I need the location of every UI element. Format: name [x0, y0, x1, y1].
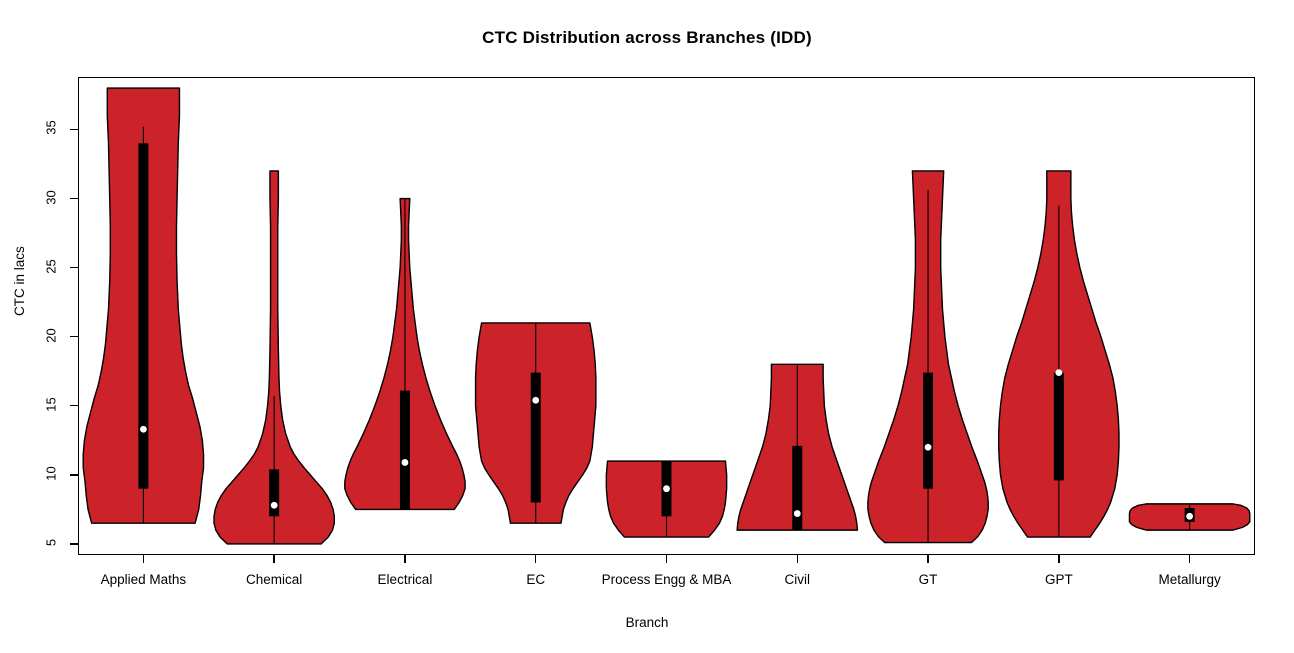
- x-tick-mark: [927, 555, 928, 563]
- y-tick-mark: [70, 267, 78, 268]
- violin-applied-maths[interactable]: [83, 88, 203, 523]
- median-dot: [794, 510, 801, 517]
- iqr-box: [400, 391, 410, 510]
- median-dot: [925, 444, 932, 451]
- violin-process-engg-mba[interactable]: [606, 461, 726, 537]
- y-tick-label: 25: [44, 251, 59, 281]
- x-tick-label-gt: GT: [919, 572, 938, 587]
- median-dot: [663, 485, 670, 492]
- x-tick-label-process-engg-mba: Process Engg & MBA: [602, 572, 732, 587]
- x-tick-label-civil: Civil: [785, 572, 811, 587]
- y-tick-mark: [70, 543, 78, 544]
- x-tick-label-metallurgy: Metallurgy: [1158, 572, 1220, 587]
- violin-gt[interactable]: [868, 171, 988, 543]
- x-tick-label-ec: EC: [526, 572, 545, 587]
- median-dot: [1055, 369, 1062, 376]
- violin-electrical[interactable]: [345, 199, 465, 510]
- x-tick-mark: [404, 555, 405, 563]
- violin-metallurgy[interactable]: [1129, 504, 1249, 530]
- violin-chart-page: CTC Distribution across Branches (IDD) C…: [0, 0, 1294, 653]
- x-tick-mark: [1189, 555, 1190, 563]
- violin-group: [78, 77, 1255, 555]
- iqr-box: [269, 469, 279, 516]
- x-tick-mark: [143, 555, 144, 563]
- y-tick-label: 35: [44, 113, 59, 143]
- median-dot: [271, 502, 278, 509]
- x-tick-label-applied-maths: Applied Maths: [101, 572, 187, 587]
- median-dot: [532, 397, 539, 404]
- page-title: CTC Distribution across Branches (IDD): [0, 28, 1294, 48]
- y-tick-mark: [70, 129, 78, 130]
- y-tick-label: 10: [44, 458, 59, 488]
- iqr-box: [531, 373, 541, 503]
- y-tick-label: 30: [44, 182, 59, 212]
- x-tick-mark: [797, 555, 798, 563]
- iqr-box: [1054, 373, 1064, 481]
- x-tick-label-electrical: Electrical: [378, 572, 433, 587]
- y-tick-label: 5: [44, 527, 59, 557]
- y-tick-mark: [70, 198, 78, 199]
- violin-ec[interactable]: [476, 323, 596, 523]
- y-tick-mark: [70, 336, 78, 337]
- y-tick-mark: [70, 405, 78, 406]
- plot-area: [78, 77, 1255, 555]
- x-tick-mark: [273, 555, 274, 563]
- iqr-box: [923, 373, 933, 489]
- x-tick-mark: [535, 555, 536, 563]
- x-tick-label-gpt: GPT: [1045, 572, 1073, 587]
- median-dot: [402, 459, 409, 466]
- x-tick-label-chemical: Chemical: [246, 572, 302, 587]
- y-axis-title: CTC in lacs: [12, 246, 27, 316]
- iqr-box: [792, 446, 802, 530]
- y-tick-mark: [70, 474, 78, 475]
- y-tick-label: 20: [44, 320, 59, 350]
- median-dot: [1186, 513, 1193, 520]
- median-dot: [140, 426, 147, 433]
- violin-civil[interactable]: [737, 364, 857, 530]
- violin-chemical[interactable]: [214, 171, 334, 544]
- x-tick-mark: [666, 555, 667, 563]
- x-axis-title: Branch: [0, 615, 1294, 630]
- y-tick-label: 15: [44, 389, 59, 419]
- violin-gpt[interactable]: [999, 171, 1119, 537]
- iqr-box: [138, 143, 148, 488]
- x-tick-mark: [1058, 555, 1059, 563]
